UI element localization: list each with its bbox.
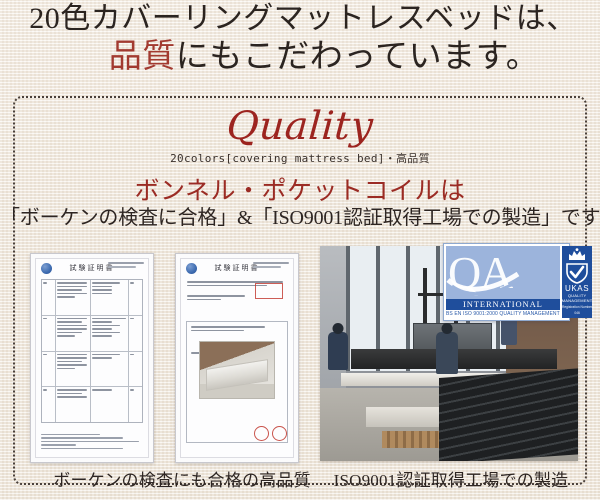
certificate-document-a: 試験証明書 <box>30 253 154 463</box>
certificate-a-meta <box>108 262 144 270</box>
iso-certification-badge: Q A INTERNATIONAL BS EN ISO 9001:2000 QU… <box>443 243 570 321</box>
certificate-a-footer <box>41 434 143 452</box>
table-row <box>42 387 142 422</box>
caption-right: ISO9001認証取得工場での製造 <box>320 466 582 491</box>
mattress-photo <box>199 341 275 399</box>
photo-worker <box>436 332 458 374</box>
table-row <box>42 352 142 388</box>
quality-script-title: Quality <box>0 104 600 149</box>
quality-subtitle: 20colors[covering mattress bed]・高品質 <box>0 150 600 166</box>
certification-statement: 「ボーケンの検査に合格」&「ISO9001認証取得工場での製造」です！ <box>0 201 600 230</box>
qa-international-mark: Q A INTERNATIONAL BS EN ISO 9001:2000 QU… <box>446 246 560 318</box>
photo-stacked-material <box>439 368 578 461</box>
checkmark-icon <box>564 262 590 284</box>
headline-line-2: 品質にもこだわっています。 <box>0 41 600 74</box>
red-stamp-circle-2 <box>272 426 287 441</box>
table-row <box>42 316 142 352</box>
certificate-a-table <box>41 279 143 423</box>
crown-icon <box>567 248 587 262</box>
qa-iso-standard-label: BS EN ISO 9001:2000 QUALITY MANAGEMENT <box>446 310 560 318</box>
certificate-b-body: 試験証明書 <box>180 258 294 458</box>
ukas-name-label: UKAS <box>565 284 589 293</box>
registration-label: Registration Number <box>562 305 592 309</box>
certificate-document-b: 試験証明書 <box>175 253 299 463</box>
ukas-mark: UKAS QUALITY MANAGEMENT Registration Num… <box>562 246 593 318</box>
caption-left: ボーケンの検査にも合格の高品質 <box>52 466 312 491</box>
headline-accent-text: 品質 <box>109 39 176 75</box>
qa-international-label: INTERNATIONAL <box>446 299 560 310</box>
red-stamp-rect <box>255 283 283 299</box>
headline-line-1: 20色カバーリングマットレスベッドは、 <box>0 4 600 34</box>
red-stamp-circle-1 <box>254 426 269 441</box>
certificate-a-body: 試験証明書 <box>35 258 149 458</box>
certificate-b-meta <box>253 262 289 270</box>
page-headline: 20色カバーリングマットレスベッドは、 品質にもこだわっています。 <box>0 4 600 74</box>
ukas-subtitle-line-2: MANAGEMENT <box>562 298 593 303</box>
qa-logo-icon: Q A <box>446 246 560 299</box>
registration-number: 046 <box>574 311 580 315</box>
advertisement-page: 20色カバーリングマットレスベッドは、 品質にもこだわっています。 Qualit… <box>0 0 600 500</box>
headline-rest-text: にもこだわっています。 <box>176 39 540 75</box>
table-row <box>42 280 142 316</box>
photo-worker <box>328 332 348 370</box>
